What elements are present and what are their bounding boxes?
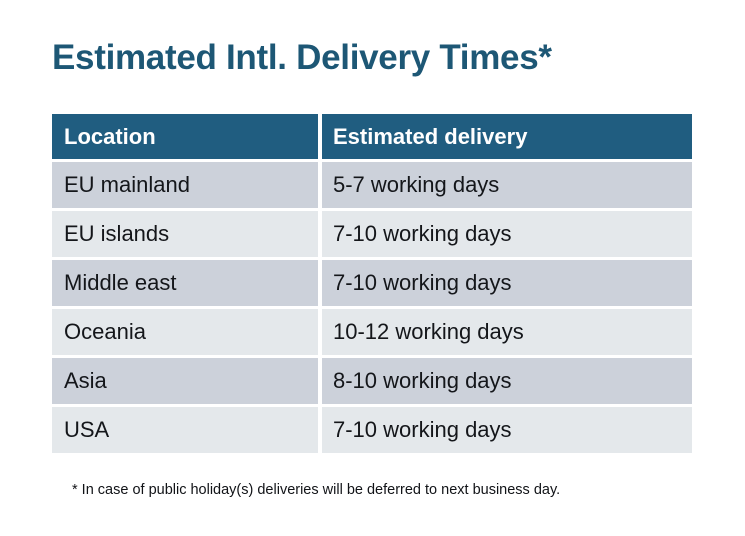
cell-delivery: 7-10 working days bbox=[322, 260, 692, 306]
delivery-times-page: Estimated Intl. Delivery Times* Location… bbox=[0, 0, 745, 536]
page-title: Estimated Intl. Delivery Times* bbox=[52, 36, 552, 80]
cell-delivery: 8-10 working days bbox=[322, 358, 692, 404]
column-header-location: Location bbox=[52, 114, 318, 159]
table-row: Oceania 10-12 working days bbox=[52, 309, 692, 355]
cell-delivery: 7-10 working days bbox=[322, 407, 692, 453]
table-row: EU mainland 5-7 working days bbox=[52, 162, 692, 208]
footnote-text: * In case of public holiday(s) deliverie… bbox=[72, 480, 560, 500]
cell-delivery: 10-12 working days bbox=[322, 309, 692, 355]
delivery-times-table: Location Estimated delivery EU mainland … bbox=[52, 114, 692, 453]
table-row: Asia 8-10 working days bbox=[52, 358, 692, 404]
table-row: USA 7-10 working days bbox=[52, 407, 692, 453]
cell-location: EU mainland bbox=[52, 162, 318, 208]
cell-location: EU islands bbox=[52, 211, 318, 257]
cell-delivery: 7-10 working days bbox=[322, 211, 692, 257]
cell-location: Middle east bbox=[52, 260, 318, 306]
table-header-row: Location Estimated delivery bbox=[52, 114, 692, 159]
cell-location: Asia bbox=[52, 358, 318, 404]
table-row: EU islands 7-10 working days bbox=[52, 211, 692, 257]
cell-location: Oceania bbox=[52, 309, 318, 355]
table-row: Middle east 7-10 working days bbox=[52, 260, 692, 306]
cell-delivery: 5-7 working days bbox=[322, 162, 692, 208]
cell-location: USA bbox=[52, 407, 318, 453]
column-header-estimated-delivery: Estimated delivery bbox=[322, 114, 692, 159]
